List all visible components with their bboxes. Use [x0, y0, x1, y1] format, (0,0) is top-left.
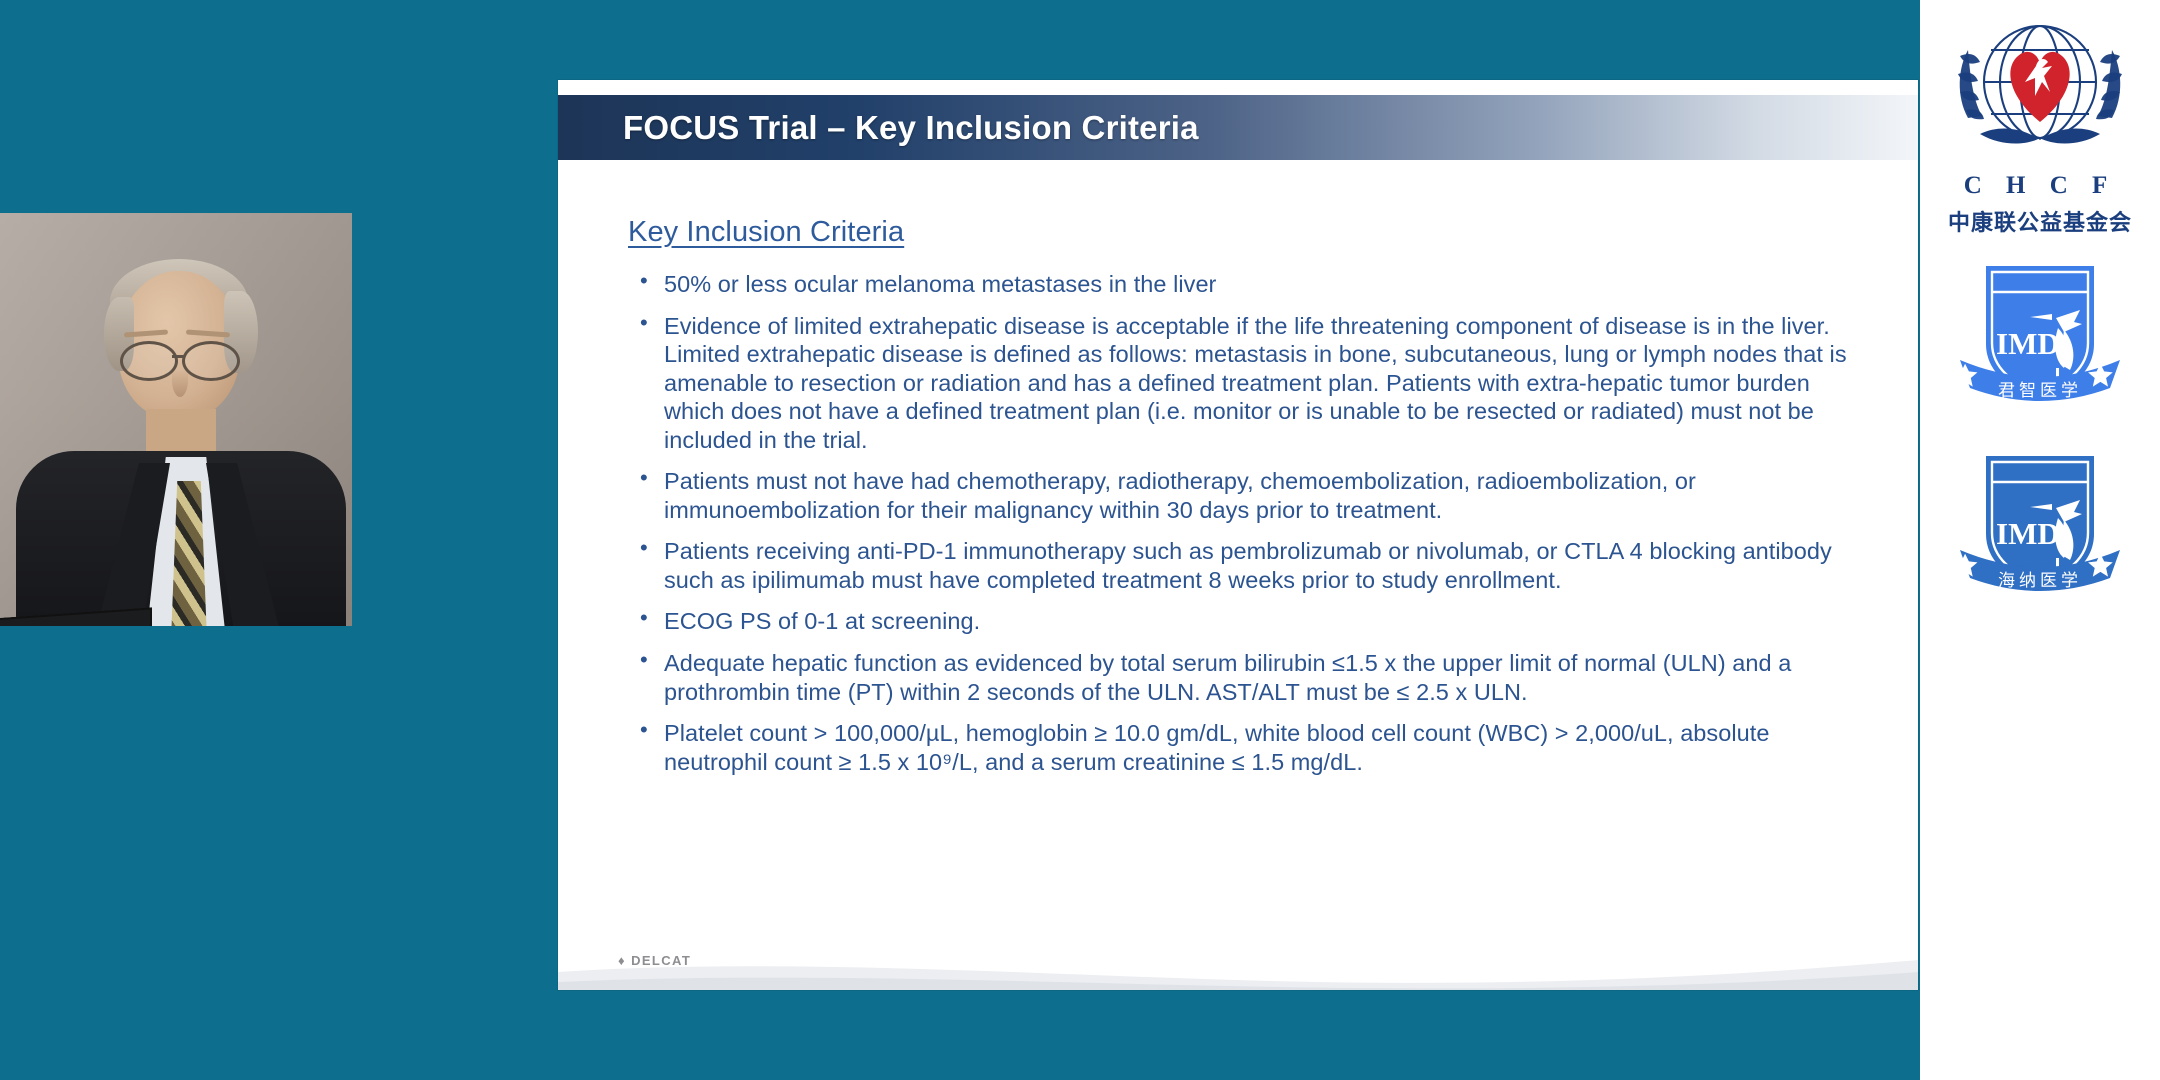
svg-text:IMD: IMD	[1996, 326, 2060, 361]
imd-badge-junzhi: IMD 君智医学	[1952, 248, 2128, 424]
list-item: 50% or less ocular melanoma metastases i…	[630, 270, 1870, 299]
inclusion-criteria-list: 50% or less ocular melanoma metastases i…	[630, 270, 1870, 789]
list-item: Patients must not have had chemotherapy,…	[630, 467, 1870, 524]
chcf-chinese-name: 中康联公益基金会	[1934, 205, 2146, 237]
imd-badge-chinese: 君智医学	[1998, 381, 2082, 400]
sponsor-logo-rail: C H C F 中康联公益基金会 IMD	[1920, 0, 2160, 1080]
imd-badge-haina: IMD 海纳医学	[1952, 438, 2128, 614]
speaker-video[interactable]	[0, 213, 352, 626]
imd-badge-chinese: 海纳医学	[1998, 571, 2082, 590]
imd-shield-icon: IMD 海纳医学	[1952, 438, 2128, 614]
slide-top-strip	[558, 80, 1918, 95]
list-item: Adequate hepatic function as evidenced b…	[630, 649, 1870, 706]
list-item: Platelet count > 100,000/µL, hemoglobin …	[630, 719, 1870, 776]
chcf-acronym: C H C F	[1934, 172, 2146, 200]
slide-header-bar: FOCUS Trial – Key Inclusion Criteria	[558, 95, 1918, 160]
eyeglasses-lens-right	[182, 341, 240, 381]
svg-text:IMD: IMD	[1996, 516, 2060, 551]
imd-shield-icon: IMD 君智医学	[1952, 248, 2128, 424]
chcf-globe-wreath-icon	[1934, 10, 2146, 170]
screen-root: FOCUS Trial – Key Inclusion Criteria Key…	[0, 0, 2160, 1080]
slide-title: FOCUS Trial – Key Inclusion Criteria	[623, 109, 1199, 147]
slide-body: Key Inclusion Criteria 50% or less ocula…	[558, 160, 1918, 920]
speaker-nose	[172, 363, 188, 397]
footer-mark-icon: ♦	[618, 953, 626, 968]
footer-logo-text: DELCAT	[631, 953, 691, 968]
chcf-logo: C H C F 中康联公益基金会	[1934, 10, 2146, 180]
slide-footer-logo: ♦ DELCAT	[618, 953, 691, 968]
wave-graphic	[558, 898, 1918, 990]
presentation-slide: FOCUS Trial – Key Inclusion Criteria Key…	[558, 80, 1918, 990]
list-item: Patients receiving anti-PD-1 immunothera…	[630, 537, 1870, 594]
eyeglasses-bridge	[172, 355, 184, 358]
list-item: ECOG PS of 0-1 at screening.	[630, 607, 1870, 636]
eyeglasses-lens-left	[120, 341, 178, 381]
slide-subheading: Key Inclusion Criteria	[628, 216, 904, 249]
list-item: Evidence of limited extrahepatic disease…	[630, 312, 1870, 455]
slide-wave-decoration	[558, 898, 1918, 990]
